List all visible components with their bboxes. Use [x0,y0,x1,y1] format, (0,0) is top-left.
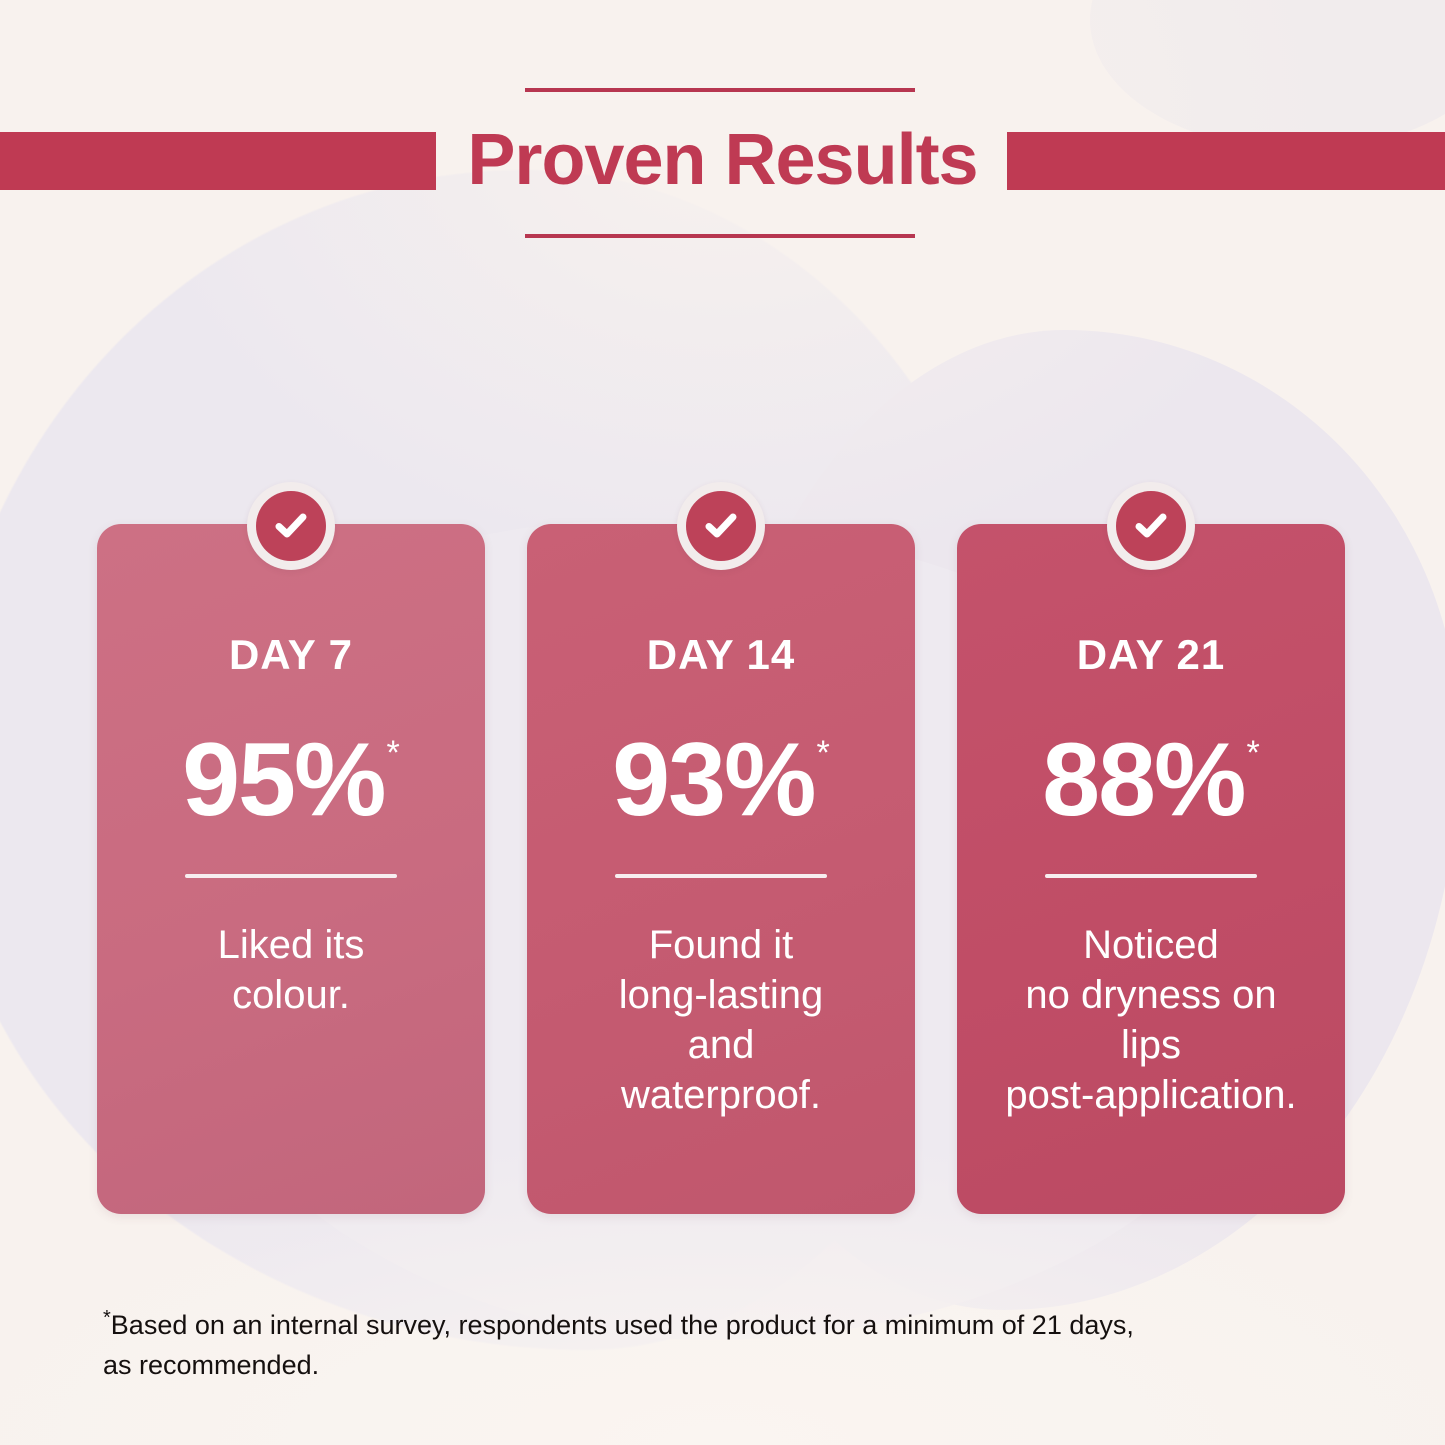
card-day-label: DAY 14 [647,634,795,676]
infographic-canvas: Proven Results DAY 7 95% * Liked its col… [0,0,1445,1445]
check-circle-icon [677,482,765,570]
card-percent-footnote-marker: * [1246,736,1259,770]
results-card-list: DAY 7 95% * Liked its colour. DAY 14 93%… [97,524,1345,1214]
card-percent-group: 93% * [612,728,829,832]
result-card-day-14: DAY 14 93% * Found it long-lasting and w… [527,524,915,1214]
card-day-label: DAY 21 [1077,634,1225,676]
card-percent-group: 95% * [182,728,399,832]
card-divider [185,874,397,878]
footnote-text: Based on an internal survey, respondents… [103,1310,1134,1380]
card-description: Found it long-lasting and waterproof. [619,920,824,1120]
check-circle-icon-inner [686,491,756,561]
card-percent-footnote-marker: * [816,736,829,770]
result-card-day-21: DAY 21 88% * Noticed no dryness on lips … [957,524,1345,1214]
title-rule-top [525,88,915,92]
check-circle-icon-inner [1116,491,1186,561]
result-card-day-7: DAY 7 95% * Liked its colour. [97,524,485,1214]
footnote-marker: * [103,1307,111,1329]
card-divider [1045,874,1257,878]
footnote: *Based on an internal survey, respondent… [103,1298,1363,1385]
title-rule-bottom [525,234,915,238]
card-percent-group: 88% * [1042,728,1259,832]
card-percent-value: 88% [1042,728,1244,832]
check-circle-icon [247,482,335,570]
card-percent-value: 95% [182,728,384,832]
card-day-label: DAY 7 [229,634,353,676]
card-description: Noticed no dryness on lips post-applicat… [1005,920,1296,1120]
card-percent-value: 93% [612,728,814,832]
card-description: Liked its colour. [218,920,365,1020]
page-title: Proven Results [0,112,1445,208]
card-percent-footnote-marker: * [386,736,399,770]
check-circle-icon-inner [256,491,326,561]
check-circle-icon [1107,482,1195,570]
card-divider [615,874,827,878]
